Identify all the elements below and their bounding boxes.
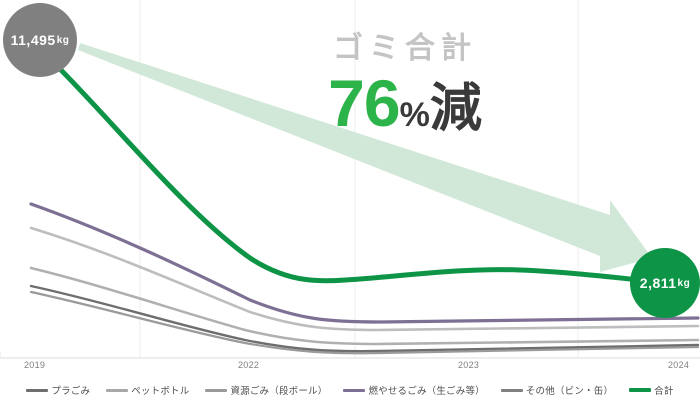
end-value-unit: kg — [678, 278, 691, 289]
x-tick-2022: 2022 — [238, 360, 259, 370]
decline-arrow — [78, 43, 652, 272]
legend-label: その他（ビン・缶） — [526, 383, 613, 397]
legend-swatch-icon — [205, 389, 227, 392]
legend-item-plastic[interactable]: プラごみ — [26, 383, 90, 397]
end-value-number: 2,811 — [640, 275, 677, 291]
legend-swatch-icon — [106, 389, 128, 392]
legend-item-total[interactable]: 合計 — [629, 383, 673, 397]
legend-swatch-icon — [343, 389, 365, 392]
start-value-bubble: 11,495kg — [3, 3, 77, 77]
legend-label: 燃やせるごみ（生ごみ等） — [368, 383, 484, 397]
legend-label: 合計 — [654, 383, 673, 397]
legend-swatch-icon — [26, 389, 48, 392]
x-tick-2023: 2023 — [458, 360, 479, 370]
x-tick-2019: 2019 — [24, 360, 45, 370]
legend-label: プラごみ — [51, 383, 90, 397]
legend-swatch-icon — [629, 388, 651, 392]
legend-label: ペットボトル — [131, 383, 189, 397]
start-value-number: 11,495 — [11, 32, 56, 48]
legend-item-moyaseru[interactable]: 燃やせるごみ（生ごみ等） — [343, 383, 484, 397]
line-chart-plot — [0, 0, 700, 400]
legend-label: 資源ごみ（段ボール） — [230, 383, 327, 397]
end-value-bubble: 2,811kg — [630, 248, 700, 318]
x-tick-2024: 2024 — [668, 360, 689, 370]
x-axis-labels: 2019 2022 2023 2024 — [0, 360, 700, 376]
legend-item-other[interactable]: その他（ビン・缶） — [501, 383, 613, 397]
start-value-unit: kg — [57, 35, 70, 46]
legend-item-shigen[interactable]: 資源ごみ（段ボール） — [205, 383, 327, 397]
legend-item-petbottle[interactable]: ペットボトル — [106, 383, 189, 397]
chart-legend: プラごみ ペットボトル 資源ごみ（段ボール） 燃やせるごみ（生ごみ等） その他（… — [0, 380, 700, 400]
legend-swatch-icon — [501, 389, 523, 392]
chart-canvas: ゴミ合計 76%減 11,495kg 2,811kg 2019 2022 202… — [0, 0, 700, 400]
